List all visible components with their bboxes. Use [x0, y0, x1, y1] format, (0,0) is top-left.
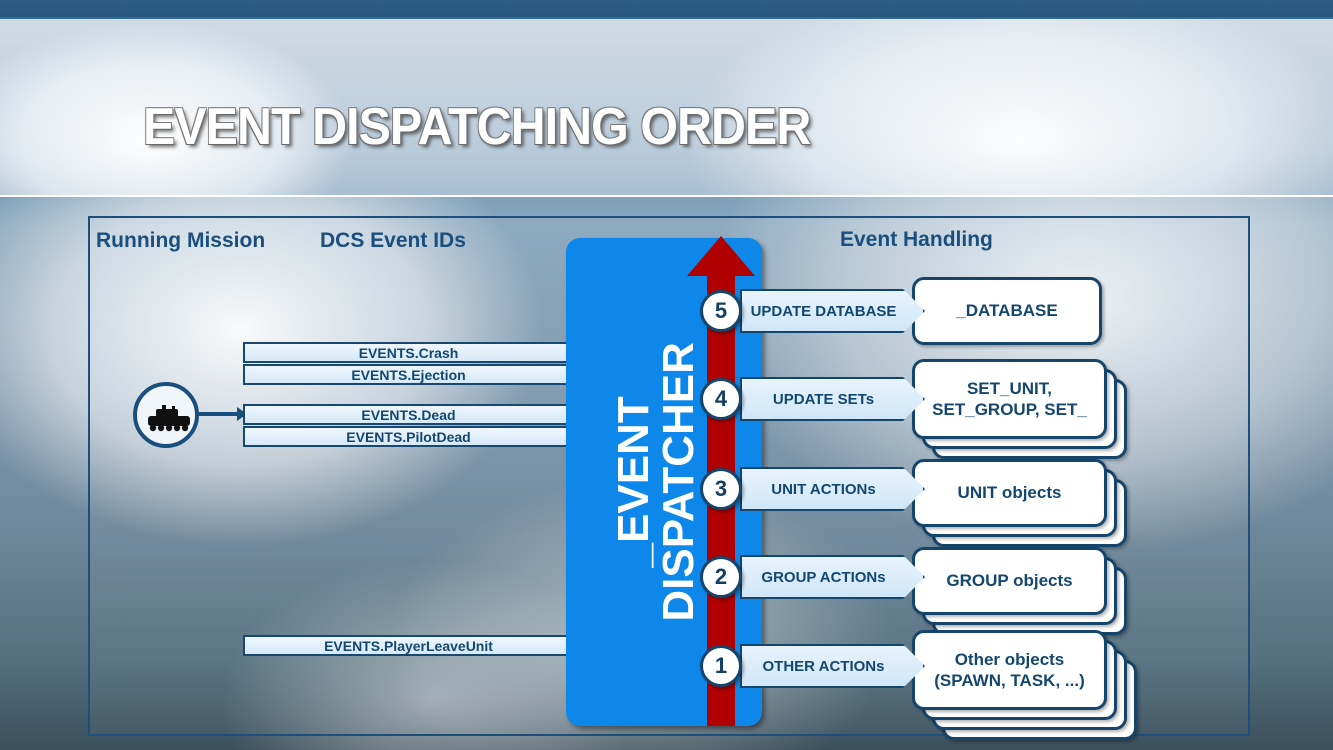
action-arrow-other-actions[interactable]: OTHER ACTIONs [740, 644, 925, 688]
event-arrow-label: EVENTS.Crash [359, 345, 471, 361]
action-arrow-unit-actions[interactable]: UNIT ACTIONs [740, 467, 925, 511]
target-card-unit-objects[interactable]: UNIT objects [912, 459, 1127, 549]
card-label: UNIT objects [958, 482, 1062, 503]
action-arrow-update-database[interactable]: UPDATE DATABASE [740, 289, 925, 333]
event-arrow-crash[interactable]: EVENTS.Crash [243, 342, 586, 363]
step-number: 3 [715, 476, 727, 502]
step-circle-5: 5 [700, 290, 742, 332]
title-banner: EVENT DISPATCHING ORDER [0, 19, 1333, 197]
card-label: _DATABASE [956, 300, 1057, 321]
action-arrow-group-actions[interactable]: GROUP ACTIONs [740, 555, 925, 599]
card-front: UNIT objects [912, 459, 1107, 527]
action-arrow-label: UPDATE DATABASE [751, 303, 915, 320]
action-arrow-label: GROUP ACTIONs [761, 569, 903, 586]
page-title: EVENT DISPATCHING ORDER [143, 97, 810, 157]
card-label-line-2: SET_GROUP, SET_ [932, 400, 1087, 419]
step-number: 2 [715, 564, 727, 590]
target-card-group-objects[interactable]: GROUP objects [912, 547, 1127, 637]
step-circle-1: 1 [700, 645, 742, 687]
column-header-event-handling: Event Handling [840, 228, 993, 252]
top-accent-strip [0, 0, 1333, 17]
step-circle-2: 2 [700, 556, 742, 598]
card-front: SET_UNIT, SET_GROUP, SET_ [912, 359, 1107, 439]
card-front: _DATABASE [912, 277, 1102, 345]
target-card-database[interactable]: _DATABASE [912, 277, 1102, 345]
step-number: 1 [715, 653, 727, 679]
card-label: GROUP objects [946, 570, 1072, 591]
event-arrow-label: EVENTS.Dead [361, 407, 467, 423]
step-circle-3: 3 [700, 468, 742, 510]
event-arrow-label: EVENTS.PlayerLeaveUnit [324, 638, 505, 654]
card-label-line-2: (SPAWN, TASK, ...) [934, 671, 1084, 690]
column-header-dcs-event-ids: DCS Event IDs [320, 229, 466, 253]
card-front: GROUP objects [912, 547, 1107, 615]
action-arrow-label: UPDATE SETs [773, 391, 892, 408]
card-label: SET_UNIT, SET_GROUP, SET_ [932, 378, 1087, 421]
step-number: 4 [715, 386, 727, 412]
card-label-line-1: SET_UNIT, [967, 379, 1052, 398]
action-arrow-label: UNIT ACTIONs [771, 481, 893, 498]
card-front: Other objects (SPAWN, TASK, ...) [912, 630, 1107, 710]
tank-icon [133, 382, 199, 448]
event-arrow-label: EVENTS.Ejection [351, 367, 477, 383]
step-number: 5 [715, 298, 727, 324]
slide-canvas: EVENT DISPATCHING ORDER Running Mission … [0, 0, 1333, 750]
event-arrow-playerleaveunit[interactable]: EVENTS.PlayerLeaveUnit [243, 635, 586, 656]
target-card-sets[interactable]: SET_UNIT, SET_GROUP, SET_ [912, 359, 1127, 459]
event-arrow-pilotdead[interactable]: EVENTS.PilotDead [243, 426, 586, 447]
step-circle-4: 4 [700, 378, 742, 420]
card-label: Other objects (SPAWN, TASK, ...) [934, 649, 1084, 692]
action-arrow-label: OTHER ACTIONs [763, 658, 903, 675]
unit-connector-line [199, 412, 241, 416]
action-arrow-update-sets[interactable]: UPDATE SETs [740, 377, 925, 421]
event-arrow-label: EVENTS.PilotDead [346, 429, 482, 445]
card-label-line-1: Other objects [955, 650, 1065, 669]
tank-icon-glyph [146, 404, 194, 434]
event-arrow-dead[interactable]: EVENTS.Dead [243, 404, 586, 425]
event-arrow-ejection[interactable]: EVENTS.Ejection [243, 364, 586, 385]
target-card-other-objects[interactable]: Other objects (SPAWN, TASK, ...) [912, 630, 1137, 740]
column-header-running-mission: Running Mission [96, 229, 265, 253]
